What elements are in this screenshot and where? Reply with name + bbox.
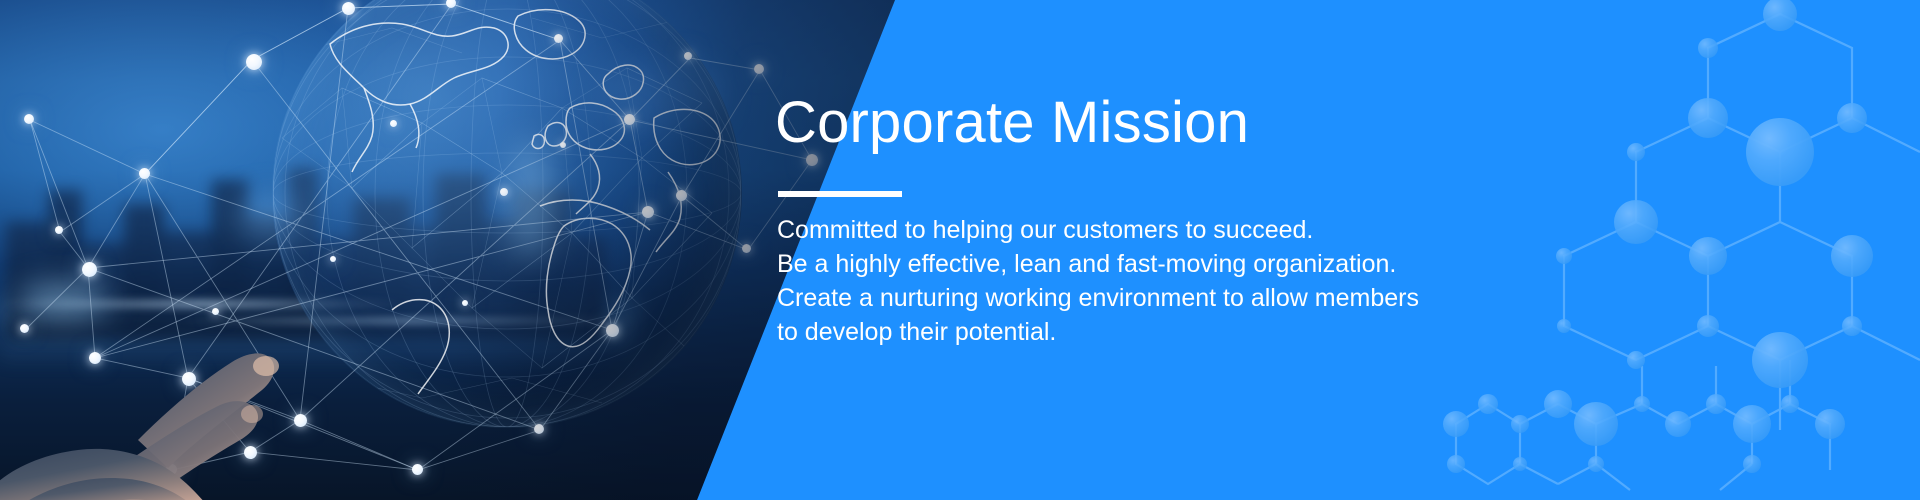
mission-line-2: Be a highly effective, lean and fast-mov… [777,247,1737,281]
mission-line-4: to develop their potential. [777,315,1737,349]
page-title: Corporate Mission [775,92,1249,155]
hero-photo [0,0,900,500]
mission-statement: Committed to helping our customers to su… [777,213,1737,349]
hand-illustration [0,226,490,500]
title-divider [778,191,902,197]
corporate-mission-banner: Corporate Mission Committed to helping o… [0,0,1920,500]
mission-content: Corporate Mission Committed to helping o… [775,0,1775,500]
mission-line-3: Create a nurturing working environment t… [777,281,1737,315]
mission-line-1: Committed to helping our customers to su… [777,213,1737,247]
